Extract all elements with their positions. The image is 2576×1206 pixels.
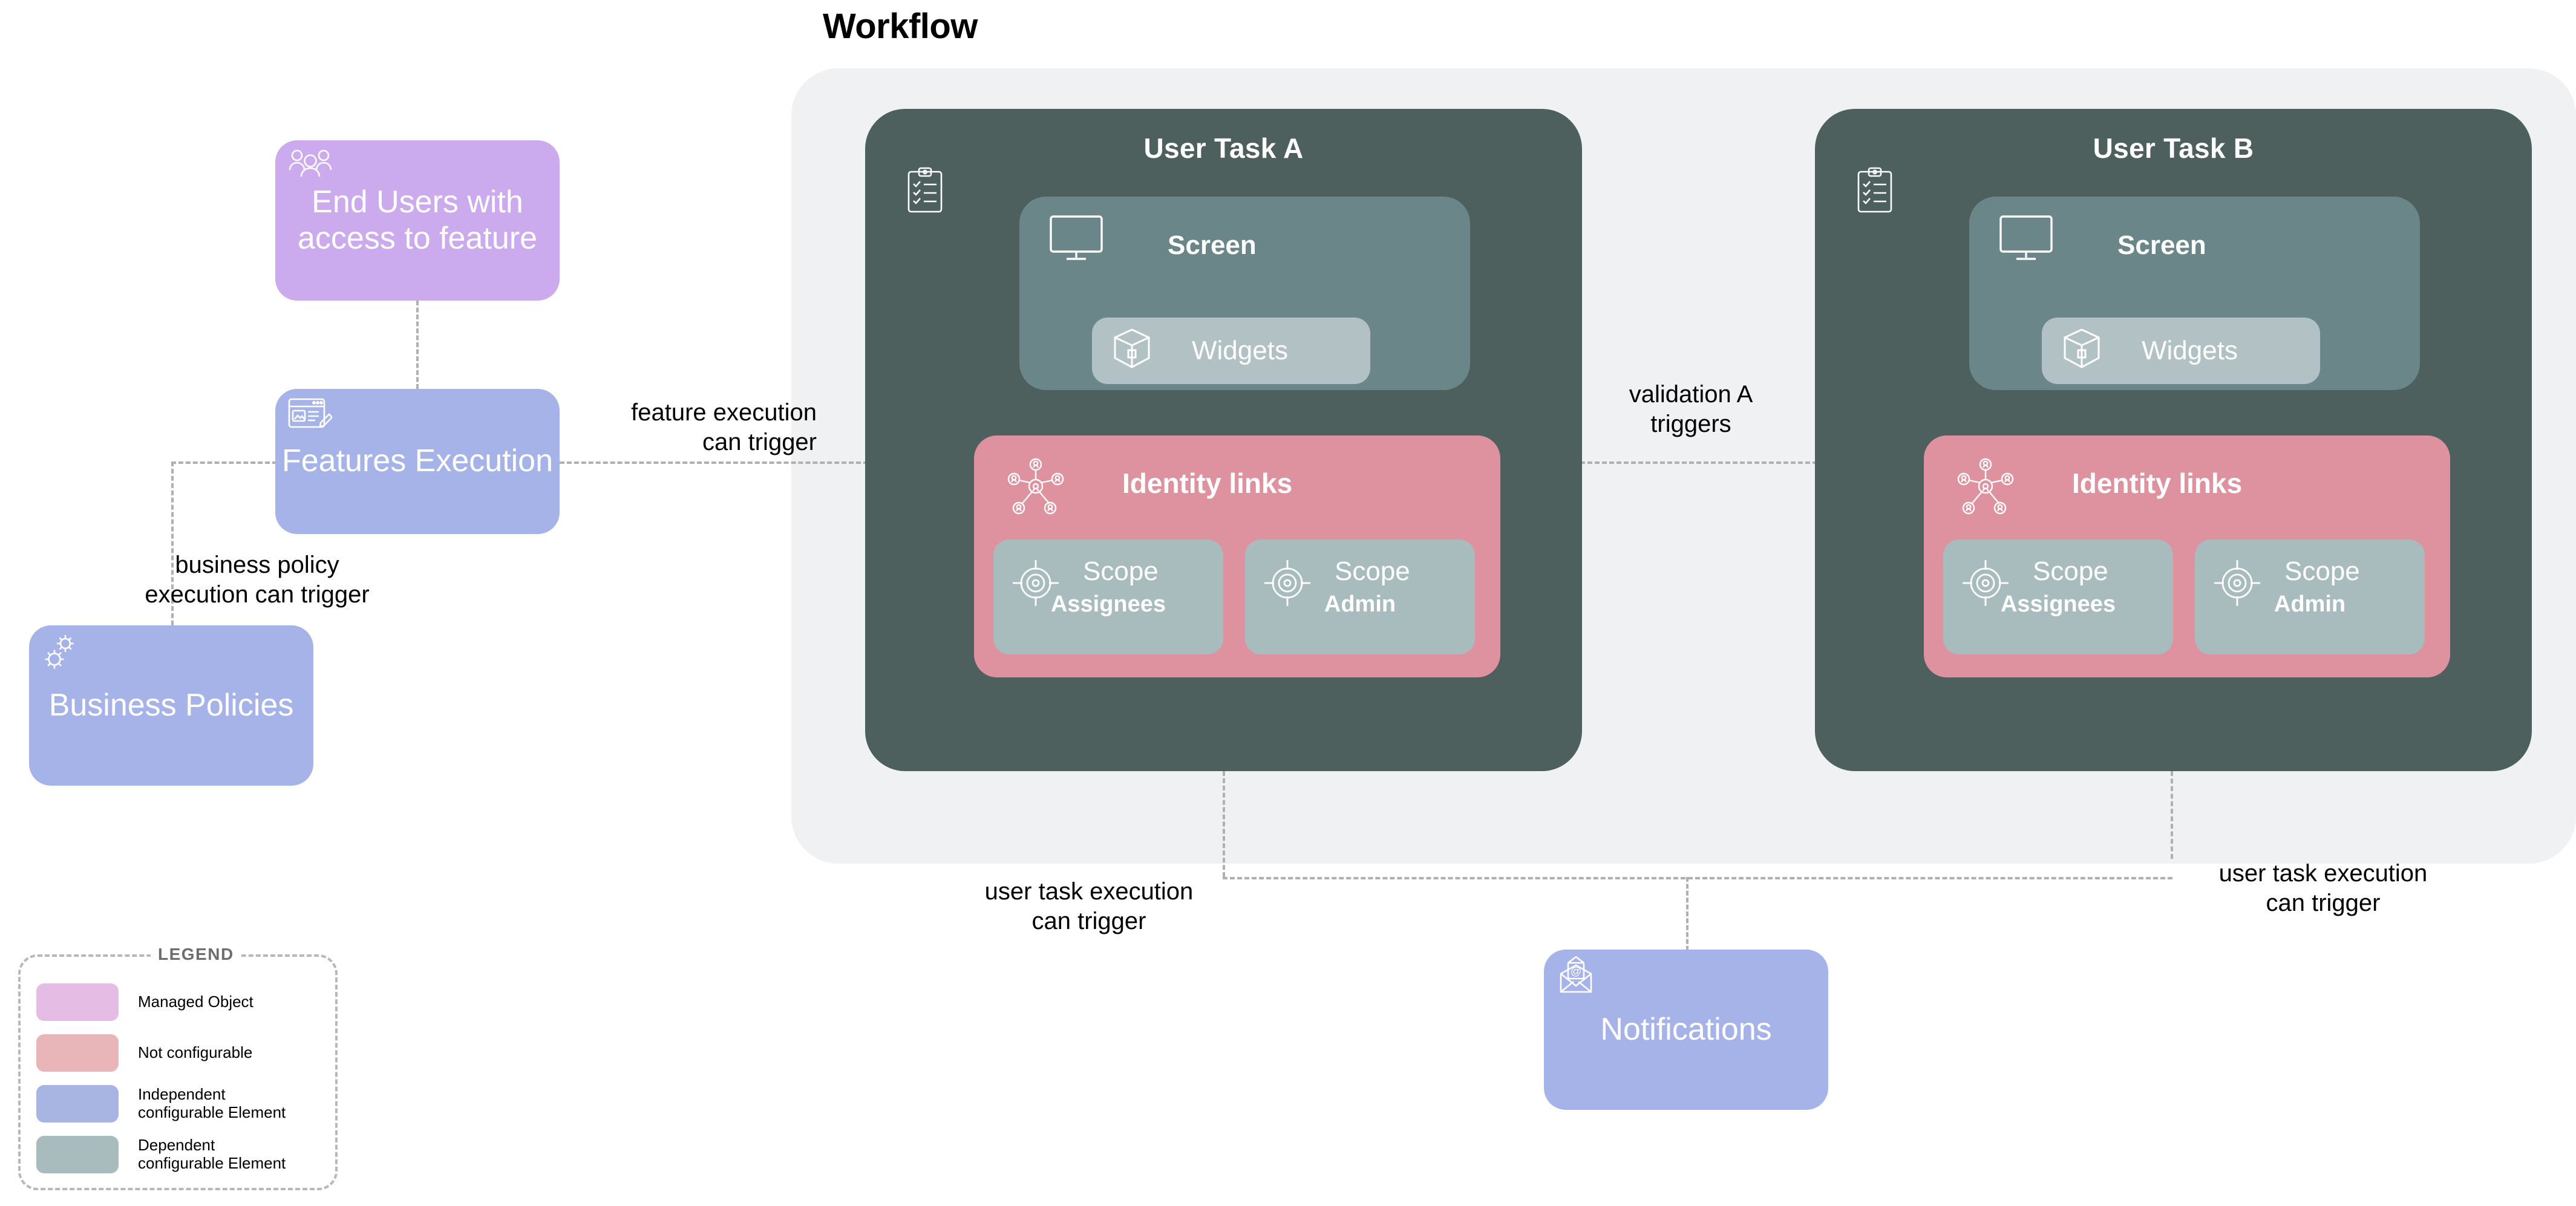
legend-title: LEGEND [151,945,241,964]
feature-page-icon [287,396,332,442]
user-task-a-title: User Task A [865,132,1582,165]
identity-network-icon [1955,457,2016,518]
connector-taska-down [1223,771,1225,877]
node-business-policies[interactable]: Business Policies [29,625,313,786]
scope-subtitle-assignees-a: Assignees [993,592,1223,618]
scope-admin-b[interactable]: Scope Admin [2195,539,2425,654]
node-features-execution[interactable]: Features Execution [275,389,560,534]
scope-title-admin-b: Scope [2284,556,2360,587]
widgets-title-b: Widgets [2142,336,2238,366]
user-task-b-title: User Task B [1815,132,2532,165]
users-group-icon [289,146,333,191]
monitor-icon [1998,213,2054,266]
page-title: Workflow [823,6,1065,47]
legend-item-managed-object: Managed Object [36,983,253,1021]
identity-network-icon [1005,457,1066,518]
legend-swatch-independent [36,1085,119,1123]
identity-links-title-a: Identity links [1122,467,1292,500]
connector-bottom-spine [1223,877,2172,879]
scope-subtitle-assignees-b: Assignees [1943,592,2173,618]
scope-subtitle-admin-b: Admin [2195,592,2425,618]
screen-title-b: Screen [2117,230,2206,261]
legend-label-not-configurable: Not configurable [138,1044,252,1062]
clipboard-checklist-icon [906,167,944,217]
legend-swatch-managed-object [36,983,119,1021]
widgets-panel-b[interactable]: Widgets [2042,318,2320,384]
box-icon [2060,326,2104,375]
identity-links-panel-a[interactable]: Identity links Scope Assignees Scop [974,435,1500,677]
node-notifications-label: Notifications [1600,1012,1771,1048]
scope-assignees-b[interactable]: Scope Assignees [1943,539,2173,654]
scope-assignees-a[interactable]: Scope Assignees [993,539,1223,654]
gears-icon [41,633,83,680]
legend-label-dependent: Dependent configurable Element [138,1136,286,1173]
connector-features-workflow [560,461,868,464]
legend: LEGEND Managed Object Not configurable I… [18,954,338,1190]
connector-label-user-task-a: user task execution can trigger [944,877,1234,936]
clipboard-checklist-icon [1856,167,1894,217]
widgets-panel-a[interactable]: Widgets [1092,318,1370,384]
widgets-title-a: Widgets [1192,336,1288,366]
box-icon [1110,326,1154,375]
node-business-policies-label: Business Policies [49,688,294,723]
connector-label-validation-a: validation A triggers [1600,380,1782,439]
scope-admin-a[interactable]: Scope Admin [1245,539,1475,654]
connector-endusers-features [416,301,419,389]
screen-panel-b[interactable]: Screen Widgets [1969,197,2420,390]
screen-panel-a[interactable]: Screen Widgets [1019,197,1470,390]
identity-links-title-b: Identity links [2072,467,2242,500]
connector-label-feature-execution: feature execution can trigger [563,398,817,457]
legend-swatch-not-configurable [36,1034,119,1072]
scope-title-assignees-a: Scope [1083,556,1159,587]
legend-item-dependent: Dependent configurable Element [36,1136,286,1173]
connector-policies-horizontal [171,461,277,464]
connector-notifications [1686,877,1688,951]
scope-subtitle-admin-a: Admin [1245,592,1475,618]
legend-swatch-dependent [36,1136,119,1173]
connector-taskb-down [2171,771,2173,859]
connector-validation-a [1580,461,1817,464]
node-end-users[interactable]: End Users with access to feature [275,140,560,301]
user-task-a-panel[interactable]: User Task A Screen [865,109,1582,771]
node-features-execution-label: Features Execution [282,443,553,479]
scope-title-assignees-b: Scope [2033,556,2108,587]
monitor-icon [1048,213,1104,266]
legend-label-managed-object: Managed Object [138,993,253,1011]
node-end-users-label: End Users with access to feature [275,184,560,256]
screen-title-a: Screen [1168,230,1257,261]
connector-label-business-policy: business policy execution can trigger [130,550,384,610]
node-notifications[interactable]: @ Notifications [1544,950,1828,1110]
identity-links-panel-b[interactable]: Identity links Scope Assignees Scop [1924,435,2450,677]
legend-item-not-configurable: Not configurable [36,1034,252,1072]
user-task-b-panel[interactable]: User Task B Screen [1815,109,2532,771]
connector-label-user-task-b: user task execution can trigger [2178,859,2468,918]
legend-item-independent: Independent configurable Element [36,1085,286,1123]
legend-label-independent: Independent configurable Element [138,1086,286,1122]
envelope-at-icon: @ [1556,956,1596,1007]
scope-title-admin-a: Scope [1335,556,1410,587]
